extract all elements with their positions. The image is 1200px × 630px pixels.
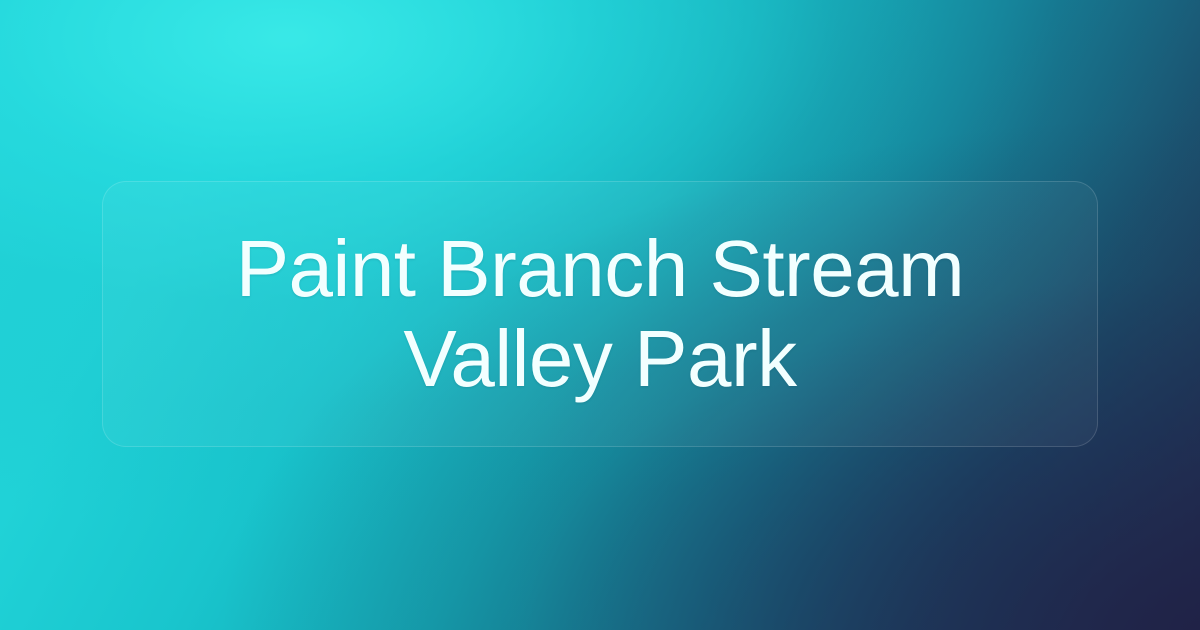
page-title: Paint Branch Stream Valley Park <box>139 224 1061 404</box>
og-image-card: Paint Branch Stream Valley Park <box>0 0 1200 630</box>
title-panel: Paint Branch Stream Valley Park <box>102 181 1098 447</box>
